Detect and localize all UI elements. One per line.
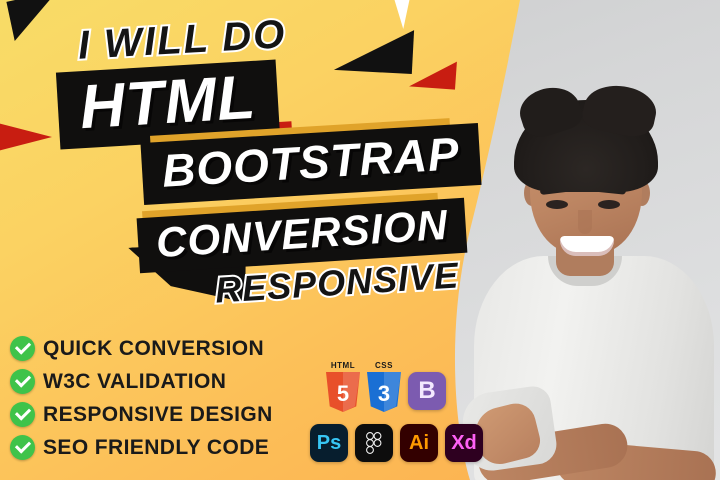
feature-label: W3C VALIDATION — [43, 370, 226, 394]
list-item: RESPONSIVE DESIGN — [10, 398, 273, 431]
check-circle-icon — [10, 435, 35, 460]
portrait-eye-right — [598, 200, 620, 209]
bootstrap-icon: B — [408, 372, 446, 410]
portrait-eye-left — [546, 200, 568, 209]
triangle-red-top-center-icon — [409, 58, 457, 89]
check-circle-icon — [10, 336, 35, 361]
check-circle-icon — [10, 369, 35, 394]
gig-thumbnail-banner: I WILL DO HTML BOOTSTRAP CONVERSION RESP… — [0, 0, 720, 480]
check-circle-icon — [10, 402, 35, 427]
list-item: QUICK CONVERSION — [10, 332, 273, 365]
figma-icon-glyph — [366, 432, 382, 454]
css3-icon-label: CSS — [375, 361, 393, 370]
triangle-black-top-center-icon — [334, 26, 414, 74]
feature-list: QUICK CONVERSION W3C VALIDATION RESPONSI… — [10, 332, 273, 464]
bootstrap-icon-glyph: B — [418, 377, 435, 405]
feature-label: QUICK CONVERSION — [43, 337, 264, 361]
portrait-smile — [560, 236, 614, 256]
portrait-photo — [452, 60, 720, 480]
feature-label: SEO FRIENDLY CODE — [43, 436, 269, 460]
triangle-red-left-icon — [0, 120, 52, 154]
tech-icon-row-primary: HTML 5 CSS 3 B — [326, 372, 446, 412]
feature-label: RESPONSIVE DESIGN — [43, 403, 273, 427]
css3-icon-glyph: 3 — [378, 381, 390, 407]
adobe-xd-icon: Xd — [445, 424, 483, 462]
headline-html-text: HTML — [78, 65, 258, 140]
css3-icon: CSS 3 — [367, 372, 401, 412]
figma-icon — [355, 424, 393, 462]
photoshop-icon: Ps — [310, 424, 348, 462]
tech-icon-row-secondary: Ps Ai Xd — [310, 424, 483, 462]
html5-icon-label: HTML — [331, 361, 355, 370]
illustrator-icon-glyph: Ai — [409, 432, 429, 455]
list-item: SEO FRIENDLY CODE — [10, 431, 273, 464]
adobe-xd-icon-glyph: Xd — [451, 432, 477, 455]
list-item: W3C VALIDATION — [10, 365, 273, 398]
html5-icon-glyph: 5 — [337, 381, 349, 407]
portrait-hair — [514, 100, 658, 192]
portrait-nose — [578, 210, 592, 234]
photoshop-icon-glyph: Ps — [317, 432, 341, 455]
html5-icon: HTML 5 — [326, 372, 360, 412]
illustrator-icon: Ai — [400, 424, 438, 462]
headline-bootstrap-text: BOOTSTRAP — [161, 128, 461, 196]
